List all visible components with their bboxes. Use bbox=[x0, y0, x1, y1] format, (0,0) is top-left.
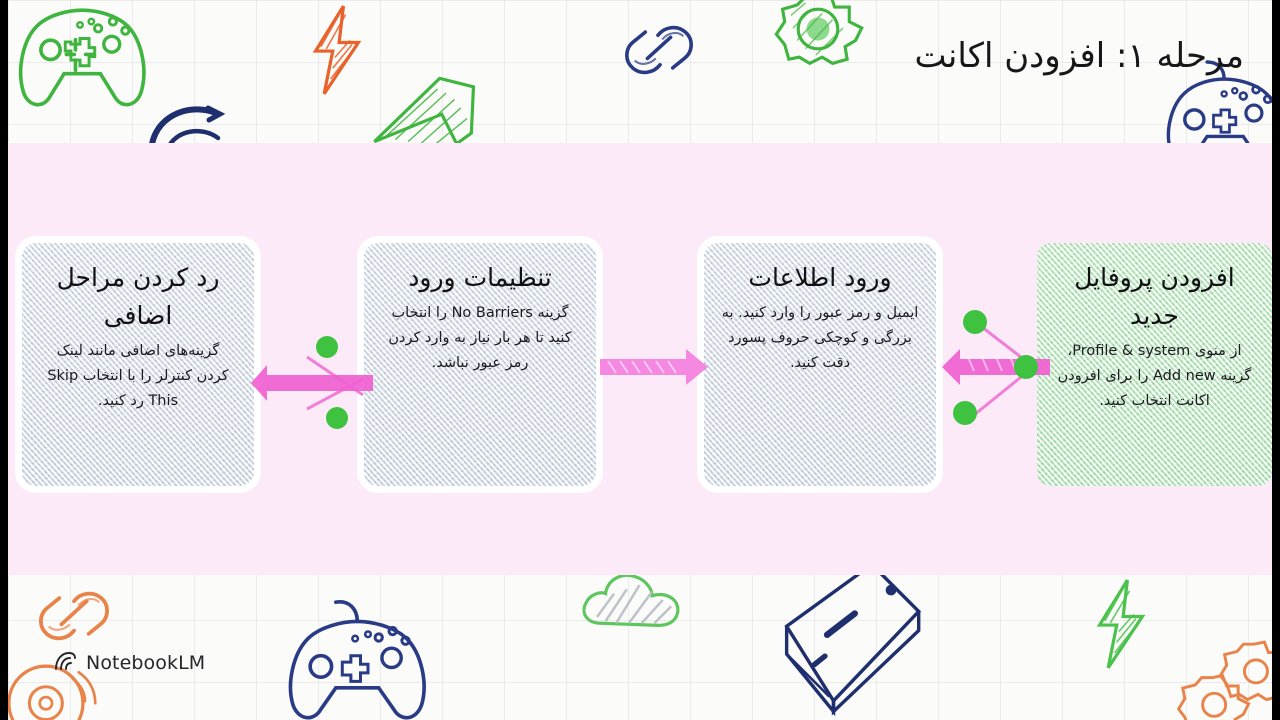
card-title: ورود اطلاعات bbox=[721, 259, 919, 297]
gear-wheel-icon bbox=[768, 0, 868, 72]
cloud-icon bbox=[578, 570, 684, 632]
connector-middle bbox=[600, 349, 708, 385]
lightning-bolt-icon bbox=[304, 4, 370, 96]
notebooklm-label: NotebookLM bbox=[86, 652, 205, 674]
notebooklm-logo-icon bbox=[53, 651, 77, 675]
flow-cards-container: رد کردن مراحل اضافی گزینه‌های اضافی مانن… bbox=[8, 143, 1272, 575]
gamepad-outline-icon bbox=[280, 600, 426, 720]
chain-link-icon bbox=[620, 14, 698, 86]
gamepad-outline-icon bbox=[12, 0, 148, 110]
card-title: تنظیمات ورود bbox=[381, 259, 579, 297]
slide-stage: مرحله ۱: افزودن اکانت رد کردن مراحل اضاف… bbox=[0, 0, 1280, 720]
card-body: از منوی Profile & system، گزینه Add new … bbox=[1054, 339, 1255, 414]
card-skip-extra-steps[interactable]: رد کردن مراحل اضافی گزینه‌های اضافی مانن… bbox=[22, 243, 254, 486]
card-body: گزینه No Barriers را انتخاب کنید تا هر ب… bbox=[381, 301, 579, 376]
page-title: مرحله ۱: افزودن اکانت bbox=[915, 36, 1244, 76]
lightning-bolt-icon bbox=[1088, 578, 1154, 670]
console-box-icon bbox=[778, 556, 938, 720]
folded-ramp-icon bbox=[368, 72, 484, 148]
card-title: رد کردن مراحل اضافی bbox=[39, 259, 237, 335]
chain-link-icon bbox=[32, 578, 116, 656]
slide-canvas: مرحله ۱: افزودن اکانت رد کردن مراحل اضاف… bbox=[8, 0, 1272, 720]
card-body: ایمیل و رمز عبور را وارد کنید. به بزرگی … bbox=[721, 301, 919, 376]
card-body: گزینه‌های اضافی مانند لینک کردن کنترلر ر… bbox=[39, 339, 237, 414]
card-enter-information[interactable]: ورود اطلاعات ایمیل و رمز عبور را وارد کن… bbox=[704, 243, 936, 486]
notebooklm-watermark: NotebookLM bbox=[53, 651, 205, 675]
connector-right bbox=[938, 301, 1050, 431]
card-add-new-profile[interactable]: افزودن پروفایل جدید از منوی Profile & sy… bbox=[1037, 243, 1272, 486]
card-sign-in-settings[interactable]: تنظیمات ورود گزینه No Barriers را انتخاب… bbox=[364, 243, 596, 486]
gears-pair-icon bbox=[1176, 640, 1272, 720]
card-title: افزودن پروفایل جدید bbox=[1054, 259, 1255, 335]
connector-left bbox=[251, 313, 373, 433]
